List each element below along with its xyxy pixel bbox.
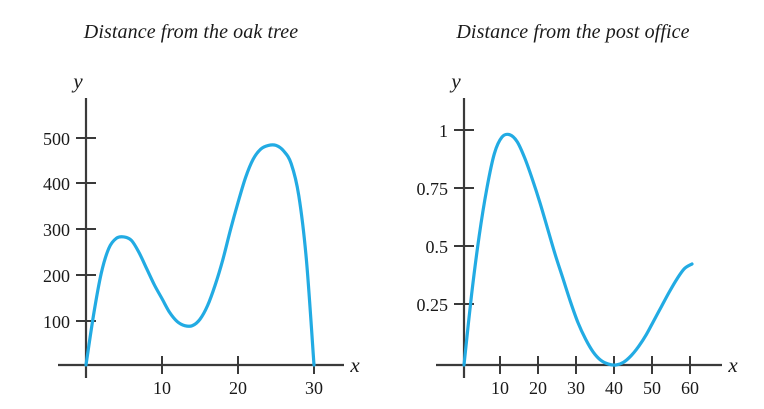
x-tick-label-20-oak-tree: 20 xyxy=(229,378,247,398)
y-axis-label-oak-tree: y xyxy=(71,69,83,93)
y-tick-label-05-post-office: 0.5 xyxy=(426,237,449,257)
x-tick-label-20-post-office: 20 xyxy=(529,378,547,398)
y-tick-label-025-post-office: 0.25 xyxy=(417,295,449,315)
figure-page: Distance from the oak tree 500 400 300 2… xyxy=(0,0,764,409)
x-axis-label-oak-tree: x xyxy=(349,353,360,377)
x-tick-label-40-post-office: 40 xyxy=(605,378,623,398)
x-axis-label-post-office: x xyxy=(727,353,738,377)
chart-panel-post-office: Distance from the post office 1 0.75 0.5… xyxy=(382,0,764,409)
data-curve-post-office xyxy=(464,134,692,365)
x-tick-label-10-oak-tree: 10 xyxy=(153,378,171,398)
y-tick-label-500-oak-tree: 500 xyxy=(43,129,70,149)
x-tick-label-10-post-office: 10 xyxy=(491,378,509,398)
y-tick-label-075-post-office: 0.75 xyxy=(417,179,449,199)
y-tick-label-400-oak-tree: 400 xyxy=(43,174,70,194)
chart-panel-oak-tree: Distance from the oak tree 500 400 300 2… xyxy=(0,0,382,409)
y-tick-label-300-oak-tree: 300 xyxy=(43,220,70,240)
x-tick-label-30-post-office: 30 xyxy=(567,378,585,398)
y-tick-label-1-post-office: 1 xyxy=(439,121,448,141)
x-tick-label-30-oak-tree: 30 xyxy=(305,378,323,398)
y-tick-label-100-oak-tree: 100 xyxy=(43,312,70,332)
y-axis-label-post-office: y xyxy=(449,69,461,93)
x-tick-label-60-post-office: 60 xyxy=(681,378,699,398)
plot-area-oak-tree: 500 400 300 200 100 10 20 30 y x xyxy=(0,0,382,409)
x-tick-label-50-post-office: 50 xyxy=(643,378,661,398)
plot-area-post-office: 1 0.75 0.5 0.25 10 20 30 40 50 60 y x xyxy=(382,0,764,409)
data-curve-oak-tree xyxy=(86,145,314,365)
y-tick-label-200-oak-tree: 200 xyxy=(43,266,70,286)
